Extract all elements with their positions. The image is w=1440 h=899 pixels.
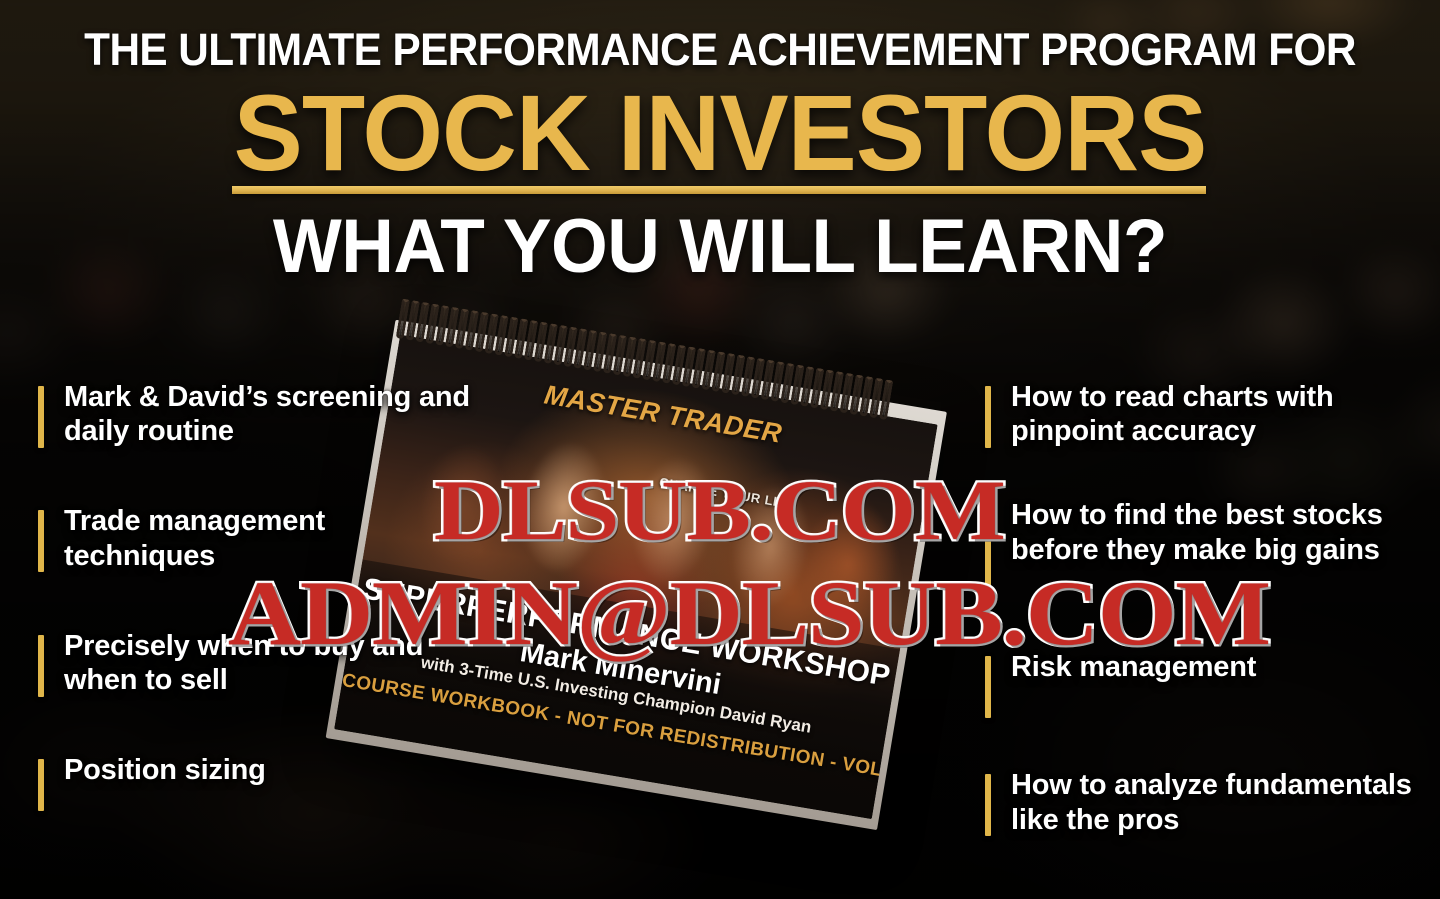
bullet-marker-icon (985, 386, 991, 448)
list-item: How to read charts with pinpoint accurac… (985, 380, 1435, 448)
header-kicker: THE ULTIMATE PERFORMANCE ACHIEVEMENT PRO… (43, 24, 1397, 76)
promo-banner: THE ULTIMATE PERFORMANCE ACHIEVEMENT PRO… (0, 0, 1440, 899)
gold-divider (232, 186, 1206, 194)
list-item-label: Mark & David’s screening and daily routi… (64, 380, 478, 448)
header-subtitle: WHAT YOU WILL LEARN? (29, 203, 1411, 290)
list-item-label: How to analyze fundamentals like the pro… (1011, 768, 1435, 836)
list-item: Position sizing (38, 753, 478, 811)
list-item: How to analyze fundamentals like the pro… (985, 768, 1435, 836)
page-title: STOCK INVESTORS (29, 78, 1411, 188)
list-item-label: Position sizing (64, 753, 266, 787)
list-item-label: How to read charts with pinpoint accurac… (1011, 380, 1435, 448)
bullet-marker-icon (38, 386, 44, 448)
bullet-marker-icon (38, 635, 44, 697)
list-item-label: How to find the best stocks before they … (1011, 498, 1435, 566)
watermark-email: ADMIN@DLSUB.COM (228, 560, 1270, 666)
bullet-marker-icon (38, 510, 44, 572)
watermark-site: DLSUB.COM (434, 460, 1005, 560)
bullet-marker-icon (38, 759, 44, 811)
list-item: Mark & David’s screening and daily routi… (38, 380, 478, 448)
bullet-marker-icon (985, 774, 991, 836)
